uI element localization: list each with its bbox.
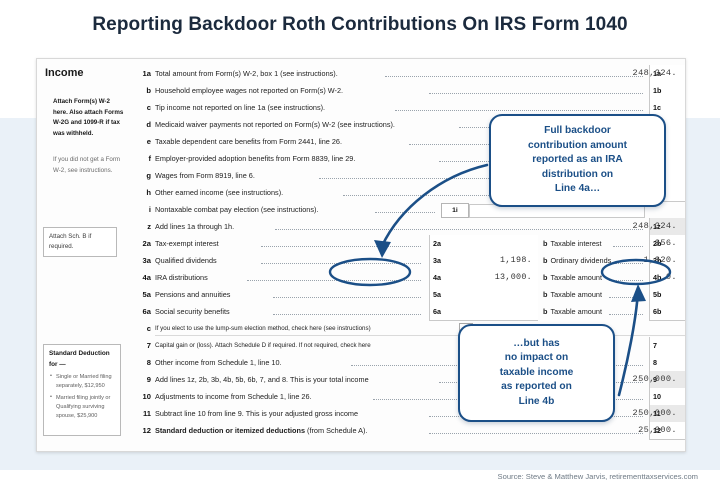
line-description-b: bTaxable amount — [543, 290, 602, 299]
line-description: Total amount from Form(s) W-2, box 1 (se… — [155, 69, 338, 78]
form-row-12: 12 Standard deduction or itemized deduct… — [129, 422, 685, 439]
line-description: Qualified dividends — [155, 256, 217, 265]
no-w2-note: If you did not get a Form W-2, see instr… — [53, 155, 125, 176]
line-description: Add lines 1a through 1h. — [155, 222, 234, 231]
cell-tag: 2a — [433, 239, 441, 248]
schedule-b-note-box: Attach Sch. B if required. — [43, 227, 117, 257]
cell-tag: 5a — [433, 290, 441, 299]
cell-amount: 248,324. — [633, 68, 677, 78]
cell-tag: 1b — [653, 86, 661, 95]
amount-cell-1z: 1z 248,324. — [649, 218, 685, 236]
cell-tag: 6b — [653, 307, 661, 316]
income-heading: Income — [45, 67, 84, 79]
form-row-1b: b Household employee wages not reported … — [129, 82, 685, 99]
form-row-2: 2a Tax-exempt interest 2a bTaxable inter… — [129, 235, 685, 252]
form-row-3: 3a Qualified dividends 3a 1,198. bOrdina… — [129, 252, 685, 269]
source-attribution: Source: Steve & Matthew Jarvis, retireme… — [498, 472, 698, 481]
amount-cell-12: 12 25,900. — [649, 422, 685, 440]
line-description: Standard deduction or itemized deduction… — [155, 426, 367, 435]
line-number: c — [133, 324, 151, 333]
line-number: g — [133, 171, 151, 180]
cell-tag: 3a — [433, 256, 441, 265]
cell-tag: 8 — [653, 358, 657, 367]
cell-amount: 248,324. — [633, 221, 677, 231]
amount-cell-3a: 3a 1,198. — [429, 252, 538, 270]
line-description: Add lines 1z, 2b, 3b, 4b, 5b, 6b, 7, and… — [155, 375, 369, 384]
line-description: Other income from Schedule 1, line 10. — [155, 358, 282, 367]
amount-cell-4b: 4b 0. — [649, 269, 685, 287]
line-description: Subtract line 10 from line 9. This is yo… — [155, 409, 358, 418]
cell-amount: 250,000. — [633, 374, 677, 384]
line-number: 11 — [133, 409, 151, 418]
std-deduction-item: Married filing jointly or Qualifying sur… — [56, 394, 115, 420]
amount-cell-5b: 5b — [649, 286, 685, 304]
cell-amount: 250,000. — [633, 408, 677, 418]
form-row-1a: 1a Total amount from Form(s) W-2, box 1 … — [129, 65, 685, 82]
amount-cell-7: 7 — [649, 337, 685, 355]
line-description: Adjustments to income from Schedule 1, l… — [155, 392, 312, 401]
form-row-1z: z Add lines 1a through 1h. 1z 248,324. — [129, 218, 685, 235]
cell-tag: 5b — [653, 290, 661, 299]
cell-tag: 1c — [653, 103, 661, 112]
line-number: d — [133, 120, 151, 129]
attach-forms-note: Attach Form(s) W-2 here. Also attach For… — [53, 97, 125, 140]
line-number: b — [133, 86, 151, 95]
line-description: Medicaid waiver payments not reported on… — [155, 120, 395, 129]
line-description-b: bTaxable interest — [543, 239, 602, 248]
cell-tag-1i: 1i — [441, 203, 469, 218]
cell-tag: 7 — [653, 341, 657, 350]
line-number: h — [133, 188, 151, 197]
cell-amount: 1,198. — [500, 255, 532, 265]
page-title: Reporting Backdoor Roth Contributions On… — [0, 14, 720, 36]
line-description: Household employee wages not reported on… — [155, 86, 343, 95]
line-description: Taxable dependent care benefits from For… — [155, 137, 342, 146]
line-description: Employer-provided adoption benefits from… — [155, 154, 355, 163]
amount-cell-2b: 2b 356. — [649, 235, 685, 253]
line-description: Social security benefits — [155, 307, 230, 316]
line-description-b: bTaxable amount — [543, 307, 602, 316]
line-number: 7 — [133, 341, 151, 350]
form-row-5: 5a Pensions and annuities 5a bTaxable am… — [129, 286, 685, 303]
line-number: z — [133, 222, 151, 231]
cell-amount: 13,000. — [495, 272, 532, 282]
amount-cell-9: 9 250,000. — [649, 371, 685, 389]
line-number: e — [133, 137, 151, 146]
line-number: 6a — [133, 307, 151, 316]
line-description: Wages from Form 8919, line 6. — [155, 171, 255, 180]
cell-tag: 4a — [433, 273, 441, 282]
line-description: Pensions and annuities — [155, 290, 230, 299]
amount-cell-10: 10 — [649, 388, 685, 406]
callout-line-4b: …but has no impact on taxable income as … — [458, 324, 615, 422]
amount-cell-1a: 1a 248,324. — [649, 65, 685, 83]
line-description: Tip income not reported on line 1a (see … — [155, 103, 325, 112]
standard-deduction-box: Standard Deduction for — Single or Marri… — [43, 344, 121, 436]
line-number: 8 — [133, 358, 151, 367]
cell-amount: 1,320. — [644, 255, 677, 265]
cell-amount: 356. — [655, 238, 677, 248]
amount-cell-3b: 3b 1,320. — [649, 252, 685, 270]
cell-tag: 6a — [433, 307, 441, 316]
standard-deduction-title: Standard Deduction for — — [49, 349, 115, 370]
amount-cell-2a: 2a — [429, 235, 538, 253]
form-row-6: 6a Social security benefits 6a bTaxable … — [129, 303, 685, 320]
amount-cell-5a: 5a — [429, 286, 538, 304]
line-description-b: bTaxable amount — [543, 273, 602, 282]
line-description-b: bOrdinary dividends — [543, 256, 611, 265]
line-description: Other earned income (see instructions). — [155, 188, 283, 197]
line-number: c — [133, 103, 151, 112]
line-description: Capital gain or (loss). Attach Schedule … — [155, 342, 371, 349]
line-number: f — [133, 154, 151, 163]
line-number: 5a — [133, 290, 151, 299]
amount-cell-11: 11 250,000. — [649, 405, 685, 423]
std-deduction-item: Single or Married filing separately, $12… — [56, 373, 115, 390]
cell-tag: 10 — [653, 392, 661, 401]
line-description: Nontaxable combat pay election (see inst… — [155, 205, 318, 214]
amount-cell-6a: 6a — [429, 303, 538, 321]
line-number: 2a — [133, 239, 151, 248]
form-row-4: 4a IRA distributions 4a 13,000. bTaxable… — [129, 269, 685, 286]
line-number: 4a — [133, 273, 151, 282]
line-description: IRA distributions — [155, 273, 208, 282]
line-number: 1a — [133, 69, 151, 78]
cell-amount: 0. — [666, 272, 677, 282]
amount-cell-4a: 4a 13,000. — [429, 269, 538, 287]
line-number: 12 — [133, 426, 151, 435]
line-number: 9 — [133, 375, 151, 384]
callout-line-4a: Full backdoor contribution amount report… — [489, 114, 666, 207]
amount-cell-8: 8 — [649, 354, 685, 372]
line-number: 10 — [133, 392, 151, 401]
form-left-column: Income Attach Form(s) W-2 here. Also att… — [37, 59, 129, 451]
amount-cell-6b: 6b — [649, 303, 685, 321]
line-description: If you elect to use the lump-sum electio… — [155, 325, 371, 332]
line-number: i — [133, 205, 151, 214]
line-description: Tax-exempt interest — [155, 239, 219, 248]
amount-cell-1b: 1b — [649, 82, 685, 100]
cell-tag: 4b — [653, 273, 661, 282]
line-number: 3a — [133, 256, 151, 265]
cell-amount: 25,900. — [638, 425, 677, 435]
